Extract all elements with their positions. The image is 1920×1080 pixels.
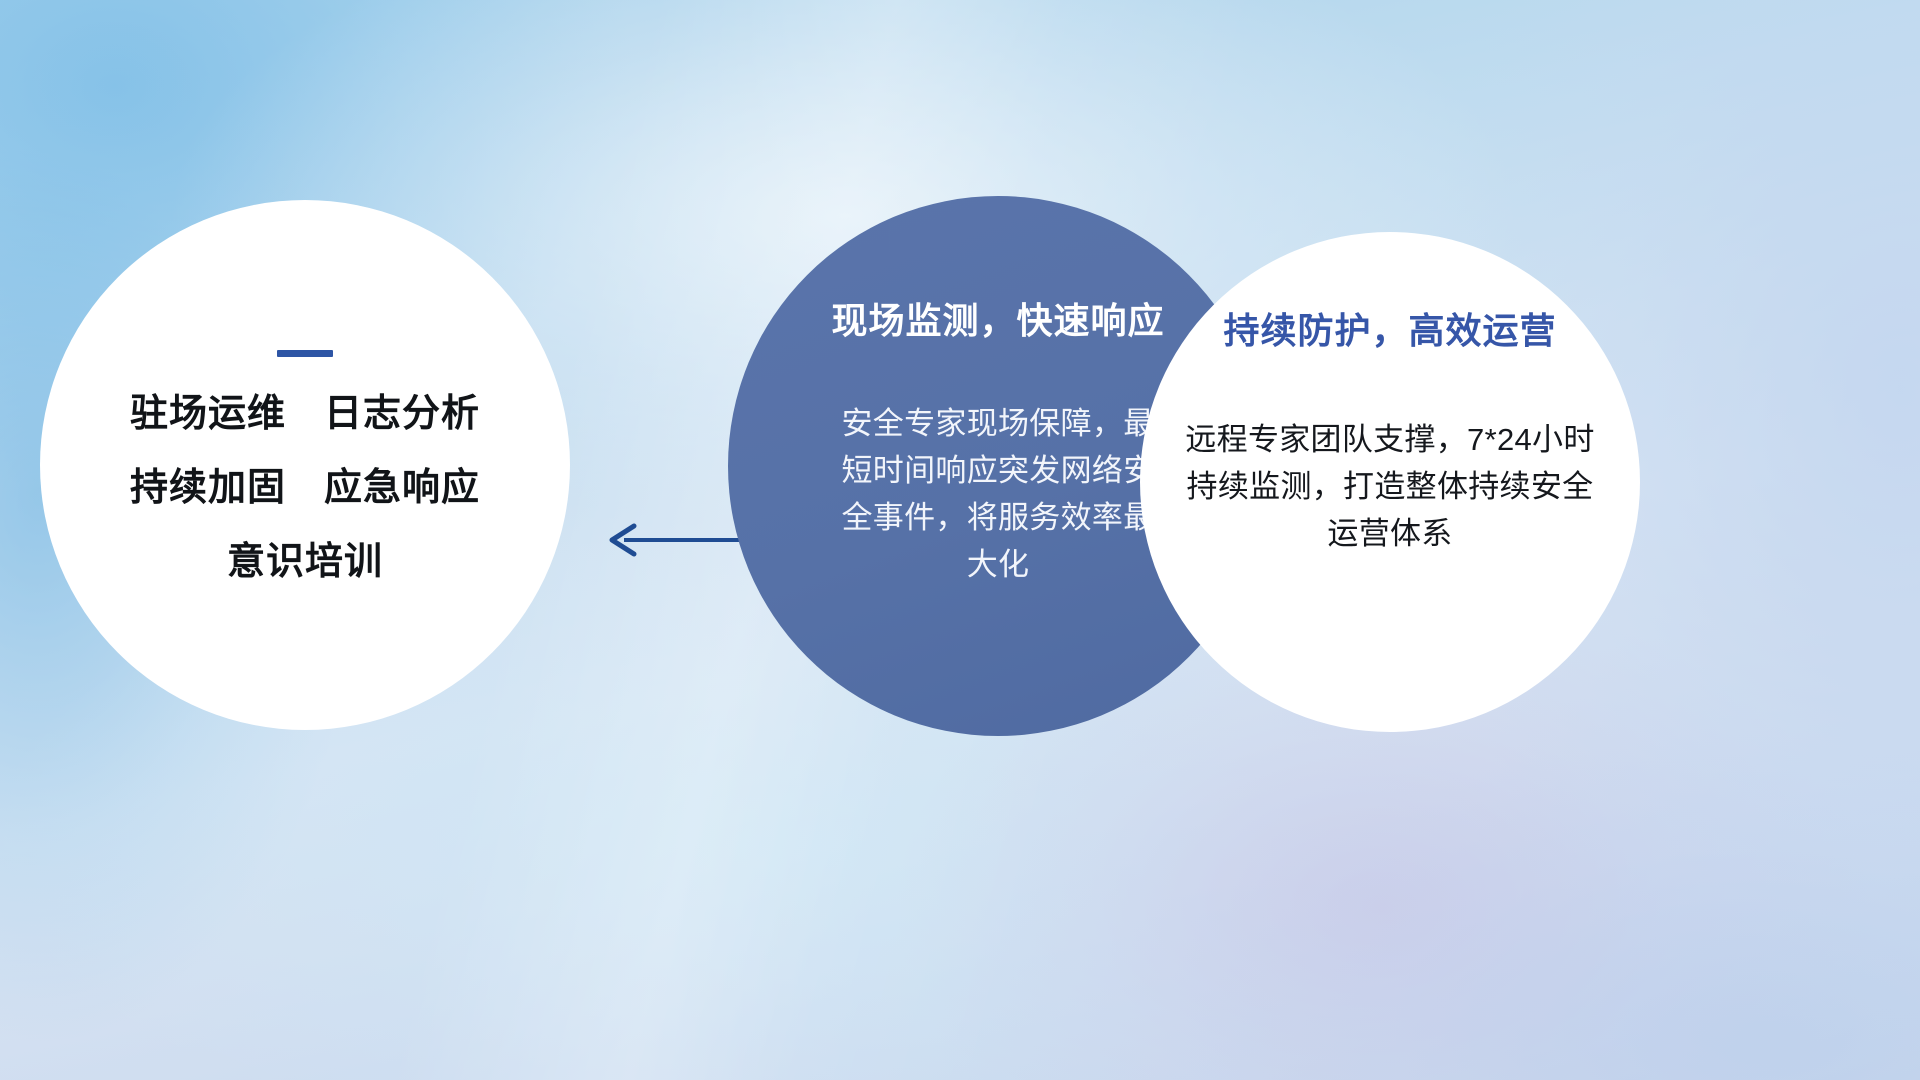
keyword-item: 持续加固 [130,469,286,507]
keyword-item: 应急响应 [324,469,480,507]
keyword-row: 驻场运维 日志分析 [130,395,480,433]
keyword-row: 意识培训 [227,543,383,581]
keyword-item: 日志分析 [324,395,480,433]
keyword-item: 驻场运维 [130,395,286,433]
capabilities-circle: 驻场运维 日志分析 持续加固 应急响应 意识培训 [40,200,570,730]
circle-title: 持续防护，高效运营 [1223,302,1556,354]
keyword-item: 意识培训 [227,543,383,581]
continuous-protection-circle: 持续防护，高效运营 远程专家团队支撑，7*24小时持续监测，打造整体持续安全运营… [1140,232,1640,732]
circle-title: 现场监测，快速响应 [831,292,1164,344]
circle-body: 远程专家团队支撑，7*24小时持续监测，打造整体持续安全运营体系 [1180,416,1600,557]
slide-canvas: 驻场运维 日志分析 持续加固 应急响应 意识培训 现场监测，快速响应 安全专家现… [0,0,1920,1080]
keyword-row: 持续加固 应急响应 [130,469,480,507]
circle-body: 安全专家现场保障，最短时间响应突发网络安全事件，将服务效率最大化 [833,400,1163,588]
divider-dash [277,350,333,357]
